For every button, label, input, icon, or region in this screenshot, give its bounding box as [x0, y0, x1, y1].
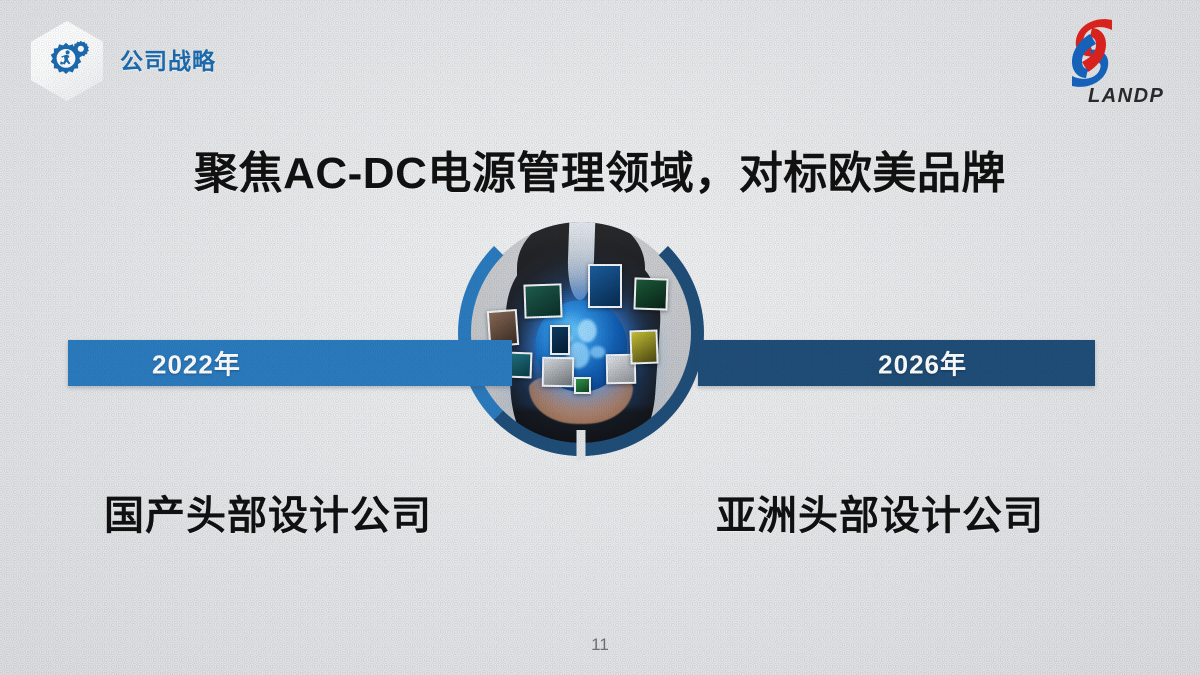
page-number: 11 — [0, 635, 1200, 655]
slide: 公司战略 LANDP 聚焦AC-DC电源管理领域，对标欧美品牌 — [0, 0, 1200, 675]
ring-right-arc — [458, 210, 704, 456]
company-logo: LANDP — [1040, 14, 1170, 110]
timeline-graphic: 2022年 2026年 — [0, 210, 1200, 520]
timeline-bar-left[interactable]: 2022年 — [68, 340, 512, 386]
timeline-bar-right[interactable]: 2026年 — [698, 340, 1095, 386]
caption-right: 亚洲头部设计公司 — [716, 483, 1044, 541]
section-badge — [31, 21, 103, 101]
ring-bottom-gap — [577, 430, 586, 460]
year-label-right: 2026年 — [878, 345, 967, 382]
gear-person-icon — [42, 36, 92, 86]
landp-logo-mark-icon — [1048, 14, 1134, 92]
split-ring — [458, 210, 704, 456]
section-label: 公司战略 — [120, 42, 216, 76]
logo-wordmark: LANDP — [1088, 85, 1164, 108]
page-title: 聚焦AC-DC电源管理领域，对标欧美品牌 — [0, 137, 1200, 201]
year-label-left: 2022年 — [152, 345, 241, 382]
caption-left: 国产头部设计公司 — [104, 483, 432, 541]
